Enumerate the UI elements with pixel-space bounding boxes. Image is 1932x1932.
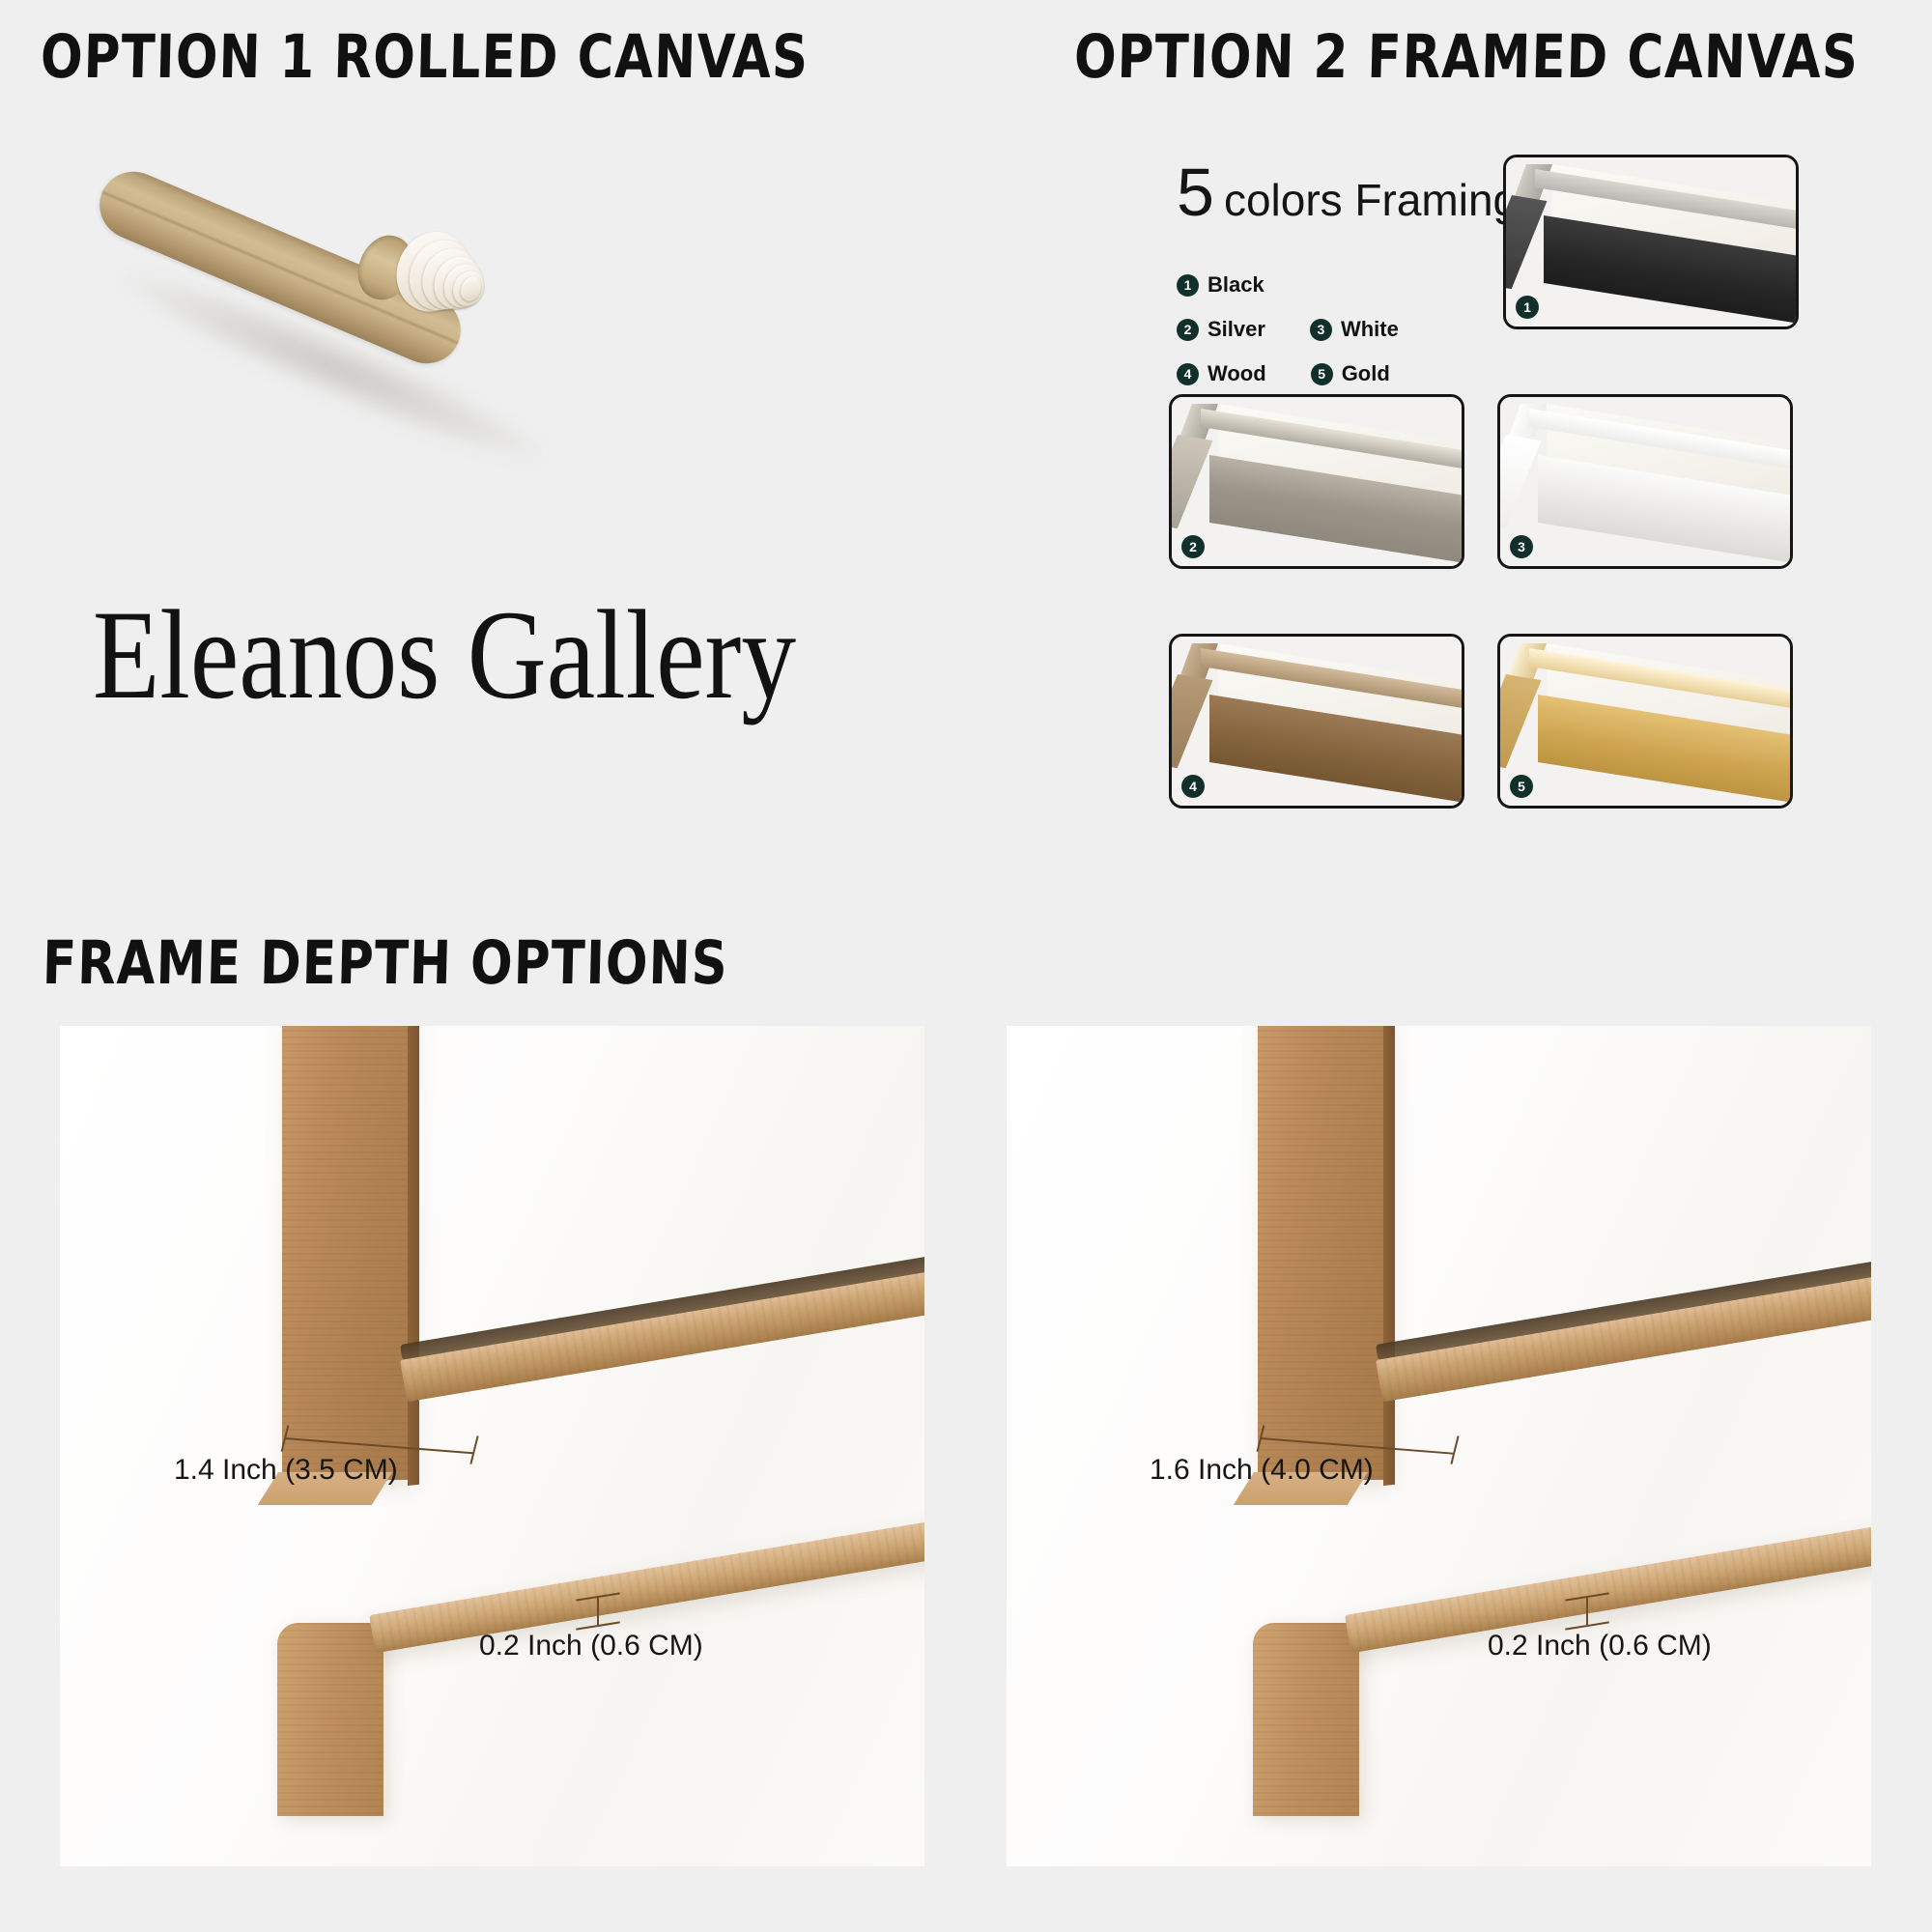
gap-dimension-label: 0.2 Inch (0.6 CM) [1488, 1630, 1712, 1662]
vertical-frame-rail [282, 1026, 408, 1480]
frame-sample-card-silver: 2 [1169, 394, 1464, 569]
frame-sample-card-black: 1 [1503, 155, 1799, 329]
legend-label-silver: Silver [1207, 317, 1265, 342]
frame-depth-photo-left: 1.4 Inch (3.5 CM) 0.2 Inch (0.6 CM) [60, 1026, 924, 1866]
frame-sample-card-wood: 4 [1169, 634, 1464, 809]
legend-badge-3: 3 [1310, 319, 1332, 341]
legend-badge-2: 2 [1177, 319, 1199, 341]
lower-rail-corner [277, 1623, 384, 1816]
frame-corner-photo-black [1506, 157, 1796, 327]
frame-depth-photo-right: 1.6 Inch (4.0 CM) 0.2 Inch (0.6 CM) [1007, 1026, 1871, 1866]
frame-corner-photo-gold [1500, 637, 1790, 806]
depth-dimension-label: 1.6 Inch (4.0 CM) [1150, 1454, 1374, 1487]
legend-item-black: 1 Black [1177, 272, 1264, 298]
legend-label-wood: Wood [1207, 361, 1266, 386]
legend-label-gold: Gold [1342, 361, 1390, 386]
frame-corner-photo-white [1500, 397, 1790, 566]
frame-depth-heading: FRAME DEPTH OPTIONS [42, 927, 729, 998]
legend-row-2: 2 Silver 3 White [1177, 317, 1495, 342]
frame-corner-photo-silver [1172, 397, 1462, 566]
gap-dimension-label: 0.2 Inch (0.6 CM) [479, 1630, 703, 1662]
frame-card-badge-1: 1 [1516, 296, 1539, 319]
frame-card-badge-2: 2 [1181, 535, 1205, 558]
depth-dimension-tick-right [1450, 1435, 1459, 1463]
option2-heading: OPTION 2 FRAMED CANVAS [1073, 21, 1860, 92]
frame-sample-card-gold: 5 [1497, 634, 1793, 809]
frame-side-left [1169, 435, 1213, 528]
framing-count-label: colors Framing [1224, 174, 1518, 226]
legend-badge-5: 5 [1311, 363, 1333, 385]
vertical-frame-rail [1258, 1026, 1383, 1480]
legend-item-white: 3 White [1310, 317, 1399, 342]
depth-dimension-tick-right [469, 1435, 478, 1463]
frame-card-badge-4: 4 [1181, 775, 1205, 798]
brand-logo: Eleanos Gallery [93, 591, 796, 719]
legend-row-1: 1 Black [1177, 272, 1495, 298]
depth-dimension-label: 1.4 Inch (3.5 CM) [174, 1454, 398, 1487]
legend-badge-4: 4 [1177, 363, 1199, 385]
legend-label-black: Black [1207, 272, 1264, 298]
rail-right-edge [408, 1026, 419, 1486]
frame-card-badge-3: 3 [1510, 535, 1533, 558]
legend-row-3: 4 Wood 5 Gold [1177, 361, 1495, 386]
frame-side-left [1497, 674, 1542, 768]
legend-item-wood: 4 Wood [1177, 361, 1266, 386]
legend-badge-1: 1 [1177, 274, 1199, 297]
frame-sample-card-white: 3 [1497, 394, 1793, 569]
legend-item-silver: 2 Silver [1177, 317, 1265, 342]
option1-heading: OPTION 1 ROLLED CANVAS [40, 21, 810, 92]
legend-label-white: White [1341, 317, 1399, 342]
framing-count: 5 [1177, 162, 1214, 223]
infographic-page: OPTION 1 ROLLED CANVAS Eleanos Gallery O… [0, 0, 1932, 1932]
framing-colors-legend: 5 colors Framing 1 Black 2 Silver 3 Whit… [1177, 162, 1495, 406]
frame-side-left [1497, 435, 1542, 528]
frame-corner-photo-wood [1172, 637, 1462, 806]
rail-right-edge [1383, 1026, 1395, 1486]
frame-side-left [1503, 195, 1548, 289]
legend-item-gold: 5 Gold [1311, 361, 1390, 386]
rolled-canvas-tube-image [68, 145, 609, 425]
frame-card-badge-5: 5 [1510, 775, 1533, 798]
frame-side-left [1169, 674, 1213, 768]
lower-rail-corner [1253, 1623, 1359, 1816]
